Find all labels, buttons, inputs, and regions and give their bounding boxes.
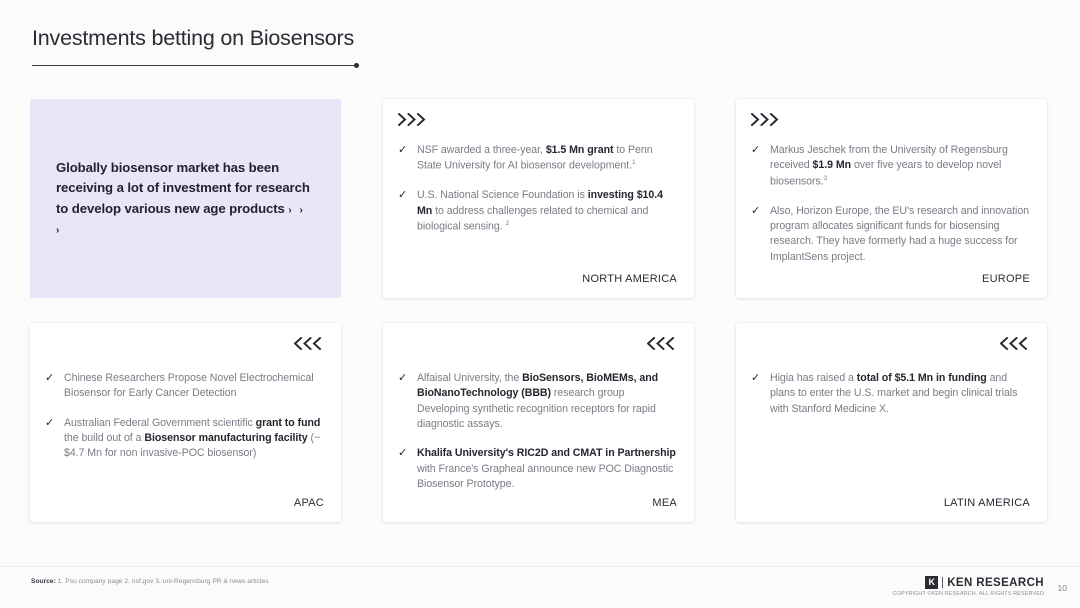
brand-name: KEN RESEARCH [947, 577, 1044, 589]
list-item: ✓NSF awarded a three-year, $1.5 Mn grant… [398, 143, 677, 174]
chevron-left-triple-icon [1000, 337, 1030, 350]
check-icon: ✓ [398, 188, 408, 204]
region-label: APAC [45, 497, 324, 509]
list-item: ✓Higia has raised a total of $5.1 Mn in … [751, 371, 1030, 417]
check-icon: ✓ [398, 371, 408, 387]
intro-card: Globally biosensor market has been recei… [30, 99, 341, 298]
ken-research-mark-icon: K [925, 576, 938, 589]
list-item-text: Also, Horizon Europe, the EU's research … [770, 204, 1030, 265]
source-text: 1. Psu company page 2. nsf.gov 3. uni-Re… [58, 578, 269, 585]
chevron-left-triple-icon [294, 337, 324, 350]
list-item: ✓Also, Horizon Europe, the EU's research… [751, 204, 1030, 265]
list-item-text: Khalifa University's RIC2D and CMAT in P… [417, 446, 677, 492]
footer-divider [0, 566, 1080, 567]
intro-text: Globally biosensor market has been recei… [56, 158, 315, 240]
slide: Investments betting on Biosensors Global… [0, 0, 1080, 608]
check-icon: ✓ [45, 416, 55, 432]
title-underline [32, 65, 357, 66]
region-label: LATIN AMERICA [751, 497, 1030, 509]
check-icon: ✓ [398, 446, 408, 462]
list-item-text: Chinese Researchers Propose Novel Electr… [64, 371, 324, 402]
chevron-right-triple-icon [751, 113, 781, 126]
list-item: ✓Australian Federal Government scientifi… [45, 416, 324, 462]
list-item: ✓U.S. National Science Foundation is inv… [398, 188, 677, 235]
check-icon: ✓ [751, 204, 761, 220]
region-card-apac: ✓Chinese Researchers Propose Novel Elect… [30, 323, 341, 522]
list-item: ✓Markus Jeschek from the University of R… [751, 143, 1030, 190]
list-item-text: NSF awarded a three-year, $1.5 Mn grant … [417, 143, 677, 174]
check-icon: ✓ [751, 143, 761, 159]
region-label: EUROPE [751, 273, 1030, 285]
chevron-left-triple-icon [647, 337, 677, 350]
list-item-text: Alfaisal University, the BioSensors, Bio… [417, 371, 677, 432]
page-number: 10 [1058, 583, 1067, 593]
region-card-europe: ✓Markus Jeschek from the University of R… [736, 99, 1047, 298]
cards-grid: Globally biosensor market has been recei… [30, 99, 1050, 522]
bullet-list: ✓Markus Jeschek from the University of R… [751, 143, 1030, 273]
header: Investments betting on Biosensors [32, 26, 372, 66]
bullet-list: ✓Chinese Researchers Propose Novel Elect… [45, 371, 324, 497]
list-item: ✓Chinese Researchers Propose Novel Elect… [45, 371, 324, 402]
list-item: ✓Khalifa University's RIC2D and CMAT in … [398, 446, 677, 492]
region-card-latin-america: ✓Higia has raised a total of $5.1 Mn in … [736, 323, 1047, 522]
check-icon: ✓ [751, 371, 761, 387]
region-label: NORTH AMERICA [398, 273, 677, 285]
source-note: Source: 1. Psu company page 2. nsf.gov 3… [31, 578, 269, 585]
list-item-text: Australian Federal Government scientific… [64, 416, 324, 462]
check-icon: ✓ [398, 143, 408, 159]
region-label: MEA [398, 497, 677, 509]
list-item-text: U.S. National Science Foundation is inve… [417, 188, 677, 235]
intro-statement: Globally biosensor market has been recei… [56, 160, 310, 216]
brand-logo: K KEN RESEARCH COPYRIGHT ©KEN RESEARCH. … [892, 576, 1044, 597]
source-label: Source: [31, 578, 56, 585]
copyright-text: COPYRIGHT ©KEN RESEARCH. ALL RIGHTS RESE… [892, 591, 1044, 597]
list-item: ✓Alfaisal University, the BioSensors, Bi… [398, 371, 677, 432]
list-item-text: Higia has raised a total of $5.1 Mn in f… [770, 371, 1030, 417]
brand-divider [942, 577, 943, 588]
list-item-text: Markus Jeschek from the University of Re… [770, 143, 1030, 190]
check-icon: ✓ [45, 371, 55, 387]
region-card-north-america: ✓NSF awarded a three-year, $1.5 Mn grant… [383, 99, 694, 298]
bullet-list: ✓NSF awarded a three-year, $1.5 Mn grant… [398, 143, 677, 273]
region-card-mea: ✓Alfaisal University, the BioSensors, Bi… [383, 323, 694, 522]
page-title: Investments betting on Biosensors [32, 26, 372, 52]
chevron-right-triple-icon [398, 113, 428, 126]
bullet-list: ✓Alfaisal University, the BioSensors, Bi… [398, 371, 677, 497]
bullet-list: ✓Higia has raised a total of $5.1 Mn in … [751, 371, 1030, 497]
